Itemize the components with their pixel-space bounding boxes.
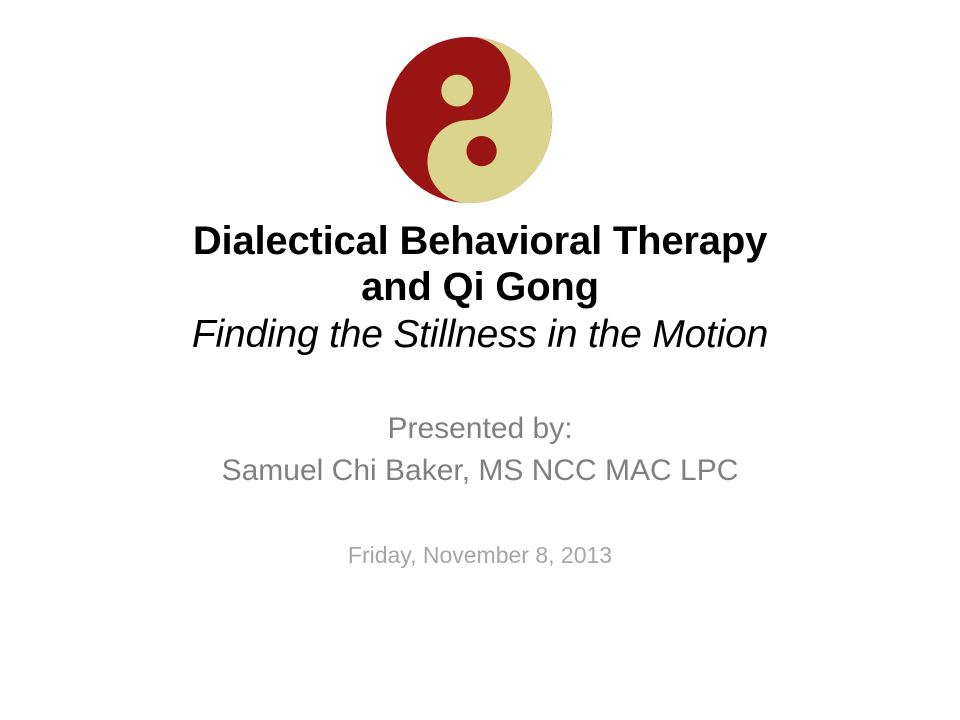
presentation-date: Friday, November 8, 2013	[0, 540, 960, 570]
presentation-slide: Dialectical Behavioral Therapy and Qi Go…	[0, 0, 960, 720]
yin-yang-icon	[385, 36, 553, 204]
title-line-1: Dialectical Behavioral Therapy	[0, 218, 960, 264]
presenter-block: Presented by: Samuel Chi Baker, MS NCC M…	[0, 408, 960, 492]
presented-by-label: Presented by:	[0, 408, 960, 450]
date-block: Friday, November 8, 2013	[0, 540, 960, 570]
presenter-name: Samuel Chi Baker, MS NCC MAC LPC	[0, 450, 960, 492]
title-line-2: and Qi Gong	[0, 264, 960, 310]
page-title: Dialectical Behavioral Therapy and Qi Go…	[0, 218, 960, 360]
title-subtitle-line: Finding the Stillness in the Motion	[0, 310, 960, 360]
yin-yang-logo	[385, 36, 553, 204]
